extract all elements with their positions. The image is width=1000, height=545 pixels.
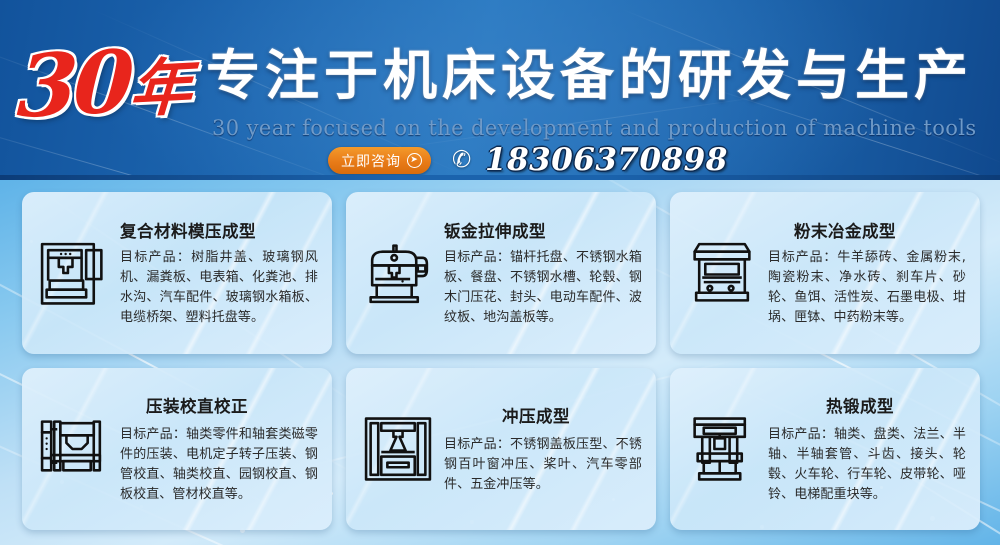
product-card-desc: 目标产品：不锈钢盖板压型、不锈钢百叶窗冲压、桨叶、汽车零部件、五金冲压等。 <box>444 435 642 495</box>
product-card-title: 粉末冶金成型 <box>768 218 966 242</box>
phone-icon: ✆ <box>452 147 476 173</box>
product-card-body: 粉末冶金成型 目标产品：牛羊舔砖、金属粉末,陶瓷粉末、净水砖、刹车片、砂轮、鱼饵… <box>768 218 970 329</box>
powder-metallurgy-press-icon <box>676 223 768 323</box>
product-card-title: 冲压成型 <box>444 403 642 427</box>
product-card[interactable]: 冲压成型 目标产品：不锈钢盖板压型、不锈钢百叶窗冲压、桨叶、汽车零部件、五金冲压… <box>346 368 656 530</box>
product-card-title: 复合材料模压成型 <box>120 218 318 242</box>
hot-forging-press-icon <box>676 399 768 499</box>
product-card-body: 复合材料模压成型 目标产品：树脂井盖、玻璃钢风机、漏粪板、电表箱、化粪池、排水沟… <box>120 218 322 329</box>
product-card[interactable]: 压装校直校正 目标产品：轴类零件和轴套类磁零件的压装、电机定子转子压装、钢管校直… <box>22 368 332 530</box>
phone-number: 18306370898 <box>485 142 728 178</box>
arrow-right-icon: ➤ <box>407 153 422 168</box>
product-card-desc: 目标产品：牛羊舔砖、金属粉末,陶瓷粉末、净水砖、刹车片、砂轮、鱼饵、活性炭、石墨… <box>768 248 966 329</box>
product-card-desc: 目标产品：锚杆托盘、不锈钢水箱板、餐盘、不锈钢水槽、轮毂、钢木门压花、封头、电动… <box>444 248 642 329</box>
compression-molding-press-icon <box>28 223 120 323</box>
promo-banner-page: 30年 专注于机床设备的研发与生产 30 year focused on the… <box>0 0 1000 545</box>
years-unit: 年 <box>128 50 194 126</box>
product-card-title: 钣金拉伸成型 <box>444 218 642 242</box>
product-card[interactable]: 热锻成型 目标产品：轴类、盘类、法兰、半轴、半轴套管、斗齿、接头、轮毂、火车轮、… <box>670 368 980 530</box>
product-card[interactable]: 粉末冶金成型 目标产品：牛羊舔砖、金属粉末,陶瓷粉末、净水砖、刹车片、砂轮、鱼饵… <box>670 192 980 354</box>
product-card-desc: 目标产品：轴类、盘类、法兰、半轴、半轴套管、斗齿、接头、轮毂、火车轮、行车轮、皮… <box>768 425 966 506</box>
product-card-body: 钣金拉伸成型 目标产品：锚杆托盘、不锈钢水箱板、餐盘、不锈钢水槽、轮毂、钢木门压… <box>444 218 646 329</box>
years-logo: 30年 <box>15 23 212 148</box>
product-card-body: 热锻成型 目标产品：轴类、盘类、法兰、半轴、半轴套管、斗齿、接头、轮毂、火车轮、… <box>768 393 970 506</box>
product-card-grid: 复合材料模压成型 目标产品：树脂井盖、玻璃钢风机、漏粪板、电表箱、化粪池、排水沟… <box>22 192 980 532</box>
consult-now-label: 立即咨询 <box>341 151 401 171</box>
product-card-title: 热锻成型 <box>768 393 966 417</box>
press-fit-straightening-icon <box>28 399 120 499</box>
product-card-body: 压装校直校正 目标产品：轴类零件和轴套类磁零件的压装、电机定子转子压装、钢管校直… <box>120 393 322 506</box>
banner-header: 30年 专注于机床设备的研发与生产 30 year focused on the… <box>0 0 1000 180</box>
arrow-glyph: ➤ <box>410 156 419 165</box>
sheet-metal-drawing-press-icon <box>352 223 444 323</box>
product-card-desc: 目标产品：轴类零件和轴套类磁零件的压装、电机定子转子压装、钢管校直、轴类校直、园… <box>120 425 318 506</box>
stamping-press-icon <box>352 399 444 499</box>
consult-now-button[interactable]: 立即咨询 ➤ <box>328 147 431 174</box>
products-board: 复合材料模压成型 目标产品：树脂井盖、玻璃钢风机、漏粪板、电表箱、化粪池、排水沟… <box>0 180 1000 545</box>
product-card-desc: 目标产品：树脂井盖、玻璃钢风机、漏粪板、电表箱、化粪池、排水沟、汽车配件、玻璃钢… <box>120 248 318 329</box>
phone-contact[interactable]: ✆ 18306370898 <box>452 142 728 178</box>
page-subtitle: 30 year focused on the development and p… <box>212 116 1000 140</box>
page-title: 专注于机床设备的研发与生产 <box>206 42 996 110</box>
years-number: 30 <box>15 31 132 138</box>
product-card[interactable]: 钣金拉伸成型 目标产品：锚杆托盘、不锈钢水箱板、餐盘、不锈钢水槽、轮毂、钢木门压… <box>346 192 656 354</box>
product-card[interactable]: 复合材料模压成型 目标产品：树脂井盖、玻璃钢风机、漏粪板、电表箱、化粪池、排水沟… <box>22 192 332 354</box>
product-card-body: 冲压成型 目标产品：不锈钢盖板压型、不锈钢百叶窗冲压、桨叶、汽车零部件、五金冲压… <box>444 403 646 495</box>
product-card-title: 压装校直校正 <box>120 393 318 417</box>
